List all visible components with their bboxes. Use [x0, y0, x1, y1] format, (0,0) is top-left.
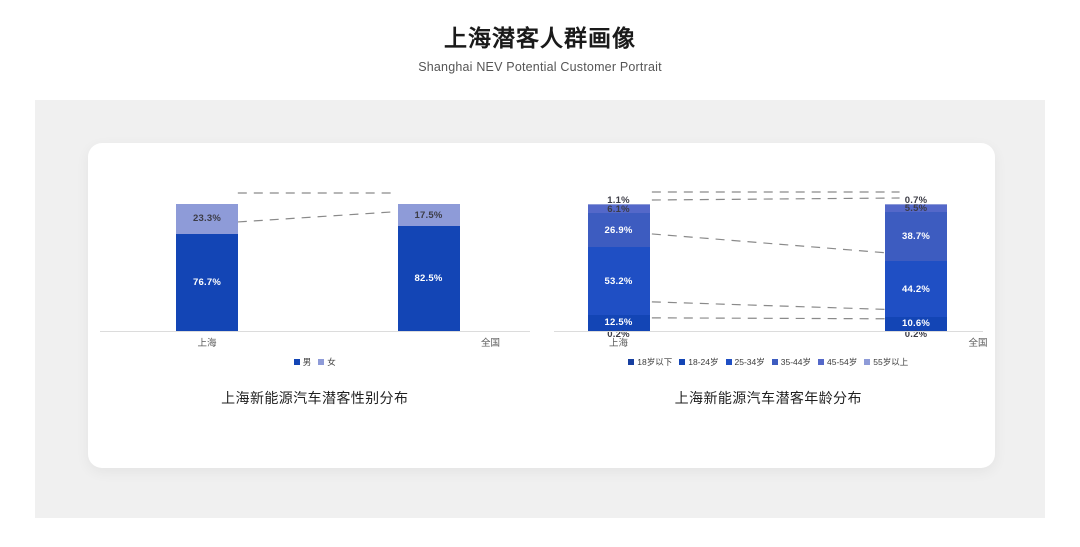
plot-area-age: 1.1% 6.1% 26.9% 53.2% 12.5%	[542, 189, 996, 332]
category-labels-age: 上海 全国	[542, 335, 996, 349]
bar-gender-national[interactable]: 17.5% 82.5%	[398, 204, 460, 331]
charts-card: 23.3% 76.7% 17.5% 82.5%	[88, 143, 995, 468]
segment-value-label: 12.5%	[605, 317, 633, 328]
legend-item-55plus[interactable]: 55岁以上	[864, 356, 908, 368]
legend-label: 35-44岁	[781, 356, 811, 368]
legend-item-18-24[interactable]: 18-24岁	[679, 356, 718, 368]
plot-area-gender: 23.3% 76.7% 17.5% 82.5%	[88, 189, 542, 332]
bar-segment-female[interactable]: 23.3%	[176, 204, 238, 234]
bar-segment-25-34[interactable]: 53.2%	[588, 247, 650, 315]
bar-segment-45-54[interactable]: 6.1%	[588, 205, 650, 213]
chart-gender: 23.3% 76.7% 17.5% 82.5%	[88, 143, 542, 468]
legend-label: 18岁以下	[637, 356, 672, 368]
legend-label: 18-24岁	[688, 356, 718, 368]
bar-segment-25-34[interactable]: 44.2%	[885, 261, 947, 317]
legend-swatch-icon	[818, 359, 824, 365]
segment-value-label: 17.5%	[415, 210, 443, 221]
legend-swatch-icon	[726, 359, 732, 365]
legend-swatch-icon	[679, 359, 685, 365]
category-label-national: 全国	[481, 335, 500, 349]
legend-label: 55岁以上	[873, 356, 908, 368]
legend-label: 男	[303, 356, 312, 368]
legend-item-35-44[interactable]: 35-44岁	[772, 356, 811, 368]
segment-value-label: 10.6%	[902, 318, 930, 329]
category-label-shanghai: 上海	[197, 335, 216, 349]
chart-caption-age: 上海新能源汽车潜客年龄分布	[542, 388, 996, 408]
legend-gender: 男 女	[88, 356, 542, 368]
legend-item-25-34[interactable]: 25-34岁	[726, 356, 765, 368]
bar-gender-shanghai[interactable]: 23.3% 76.7%	[176, 204, 238, 331]
chart-caption-gender: 上海新能源汽车潜客性别分布	[88, 388, 542, 408]
bar-segment-35-44[interactable]: 38.7%	[885, 212, 947, 261]
bar-segment-45-54[interactable]: 5.5%	[885, 205, 947, 212]
category-labels-gender: 上海 全国	[88, 335, 542, 349]
category-label-national: 全国	[968, 335, 987, 349]
legend-swatch-icon	[318, 359, 324, 365]
legend-label: 女	[327, 356, 336, 368]
bar-segment-male[interactable]: 82.5%	[398, 226, 460, 331]
legend-item-male[interactable]: 男	[294, 356, 312, 368]
bar-segment-female[interactable]: 17.5%	[398, 204, 460, 226]
legend-swatch-icon	[628, 359, 634, 365]
legend-swatch-icon	[772, 359, 778, 365]
chart-age: 1.1% 6.1% 26.9% 53.2% 12.5%	[542, 143, 996, 468]
segment-value-label: 38.7%	[902, 231, 930, 242]
legend-item-female[interactable]: 女	[318, 356, 336, 368]
legend-age: 18岁以下 18-24岁 25-34岁 35-44岁	[542, 356, 996, 368]
segment-value-label: 53.2%	[605, 276, 633, 287]
segment-value-label: 44.2%	[902, 284, 930, 295]
page-title: 上海潜客人群画像	[0, 24, 1080, 53]
bar-segment-35-44[interactable]: 26.9%	[588, 213, 650, 247]
bar-segment-male[interactable]: 76.7%	[176, 234, 238, 331]
bar-age-national[interactable]: 0.7% 5.5% 38.7% 44.2% 10.6%	[885, 204, 947, 331]
segment-value-label: 82.5%	[415, 273, 443, 284]
segment-value-label: 26.9%	[605, 225, 633, 236]
legend-label: 25-34岁	[735, 356, 765, 368]
charts-row: 23.3% 76.7% 17.5% 82.5%	[88, 143, 995, 468]
legend-item-under18[interactable]: 18岁以下	[628, 356, 672, 368]
legend-label: 45-54岁	[827, 356, 857, 368]
segment-value-label: 76.7%	[193, 277, 221, 288]
legend-item-45-54[interactable]: 45-54岁	[818, 356, 857, 368]
legend-swatch-icon	[864, 359, 870, 365]
legend-swatch-icon	[294, 359, 300, 365]
x-axis-line	[554, 331, 984, 332]
connector-lines-gender	[88, 189, 541, 332]
bar-age-shanghai[interactable]: 1.1% 6.1% 26.9% 53.2% 12.5%	[588, 204, 650, 331]
page-subtitle: Shanghai NEV Potential Customer Portrait	[0, 60, 1080, 74]
category-label-shanghai: 上海	[609, 335, 628, 349]
slide-panel: 23.3% 76.7% 17.5% 82.5%	[35, 100, 1045, 518]
segment-value-label: 23.3%	[193, 213, 221, 224]
x-axis-line	[100, 331, 530, 332]
page-header: 上海潜客人群画像 Shanghai NEV Potential Customer…	[0, 0, 1080, 74]
